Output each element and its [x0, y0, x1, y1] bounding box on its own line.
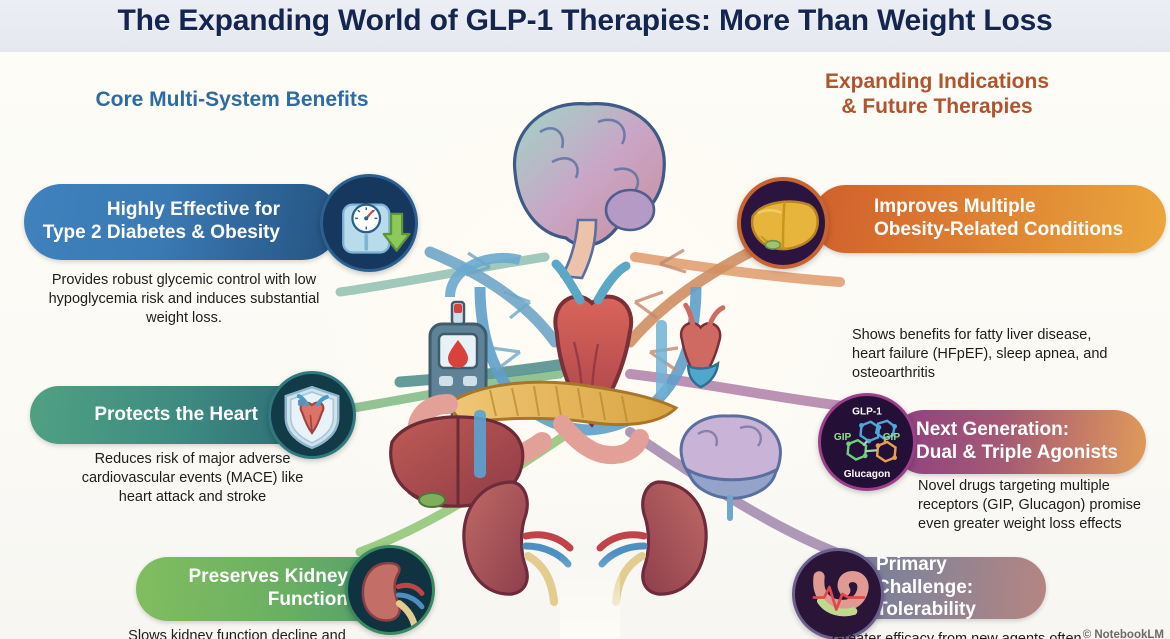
- card-body-tolerance: Greater efficacy from new agents often c…: [832, 630, 1084, 639]
- card-body-kidney: Slows kidney function decline and reduce…: [108, 627, 366, 639]
- stomach-icon: [792, 548, 884, 639]
- card-title-line1: Improves Multiple: [874, 196, 1036, 217]
- card-title-line2: Obesity-Related Conditions: [874, 219, 1123, 240]
- molecule-label-bottom: Glucagon: [844, 469, 891, 480]
- card-title-line2: Type 2 Diabetes & Obesity: [43, 222, 280, 243]
- card-title-line2: Function: [268, 589, 348, 610]
- kidney-icon: [345, 545, 435, 635]
- card-title-text: Highly Effective for Type 2 Diabetes & O…: [42, 199, 280, 245]
- card-title-diabetes[interactable]: Highly Effective for Type 2 Diabetes & O…: [24, 184, 340, 260]
- card-title-line1: Highly Effective for: [107, 199, 280, 220]
- right-heading-line2: & Future Therapies: [841, 95, 1032, 118]
- card-title-line1: Primary Challenge:: [876, 554, 973, 598]
- card-title-obesity[interactable]: Improves Multiple Obesity-Related Condit…: [812, 185, 1166, 253]
- card-title-text: Next Generation: Dual & Triple Agonists: [916, 419, 1130, 465]
- poster-body: Core Multi-System Benefits Expanding Ind…: [0, 52, 1170, 639]
- molecule-label-right: GIP: [883, 432, 901, 443]
- molecule-label-top: GLP-1: [852, 406, 882, 417]
- card-title-line2: Dual & Triple Agonists: [916, 442, 1118, 463]
- card-title-text: Preserves Kidney Function: [154, 566, 348, 612]
- heart-shield-icon: [268, 371, 356, 459]
- card-body-nextgen: Novel drugs targeting multiple receptors…: [918, 477, 1148, 534]
- weight-scale-icon: [320, 174, 418, 272]
- watermark: © NotebookLM: [1083, 629, 1164, 639]
- card-body-diabetes: Provides robust glycemic control with lo…: [48, 271, 320, 328]
- card-body-heart: Reduces risk of major adverse cardiovasc…: [80, 450, 305, 507]
- infographic-poster: The Expanding World of GLP-1 Therapies: …: [0, 0, 1170, 639]
- card-title-line1: Preserves Kidney: [189, 566, 349, 587]
- card-title-nextgen[interactable]: Next Generation: Dual & Triple Agonists: [892, 410, 1146, 474]
- liver-icon: [737, 177, 829, 269]
- card-title-line1: Next Generation:: [916, 419, 1069, 440]
- molecule-label-left: GIP: [834, 432, 852, 443]
- molecule-icon: GLP-1 GIP GIP Glucagon: [818, 393, 916, 491]
- card-title-line2: Tolerability: [876, 599, 976, 620]
- card-title-text: Protects the Heart: [48, 404, 258, 427]
- right-heading-line1: Expanding Indications: [825, 70, 1049, 93]
- card-title-text: Primary Challenge: Tolerability: [876, 554, 1028, 622]
- page-title: The Expanding World of GLP-1 Therapies: …: [0, 4, 1170, 38]
- card-title-text: Improves Multiple Obesity-Related Condit…: [874, 196, 1144, 242]
- card-body-obesity: Shows benefits for fatty liver disease, …: [852, 326, 1120, 383]
